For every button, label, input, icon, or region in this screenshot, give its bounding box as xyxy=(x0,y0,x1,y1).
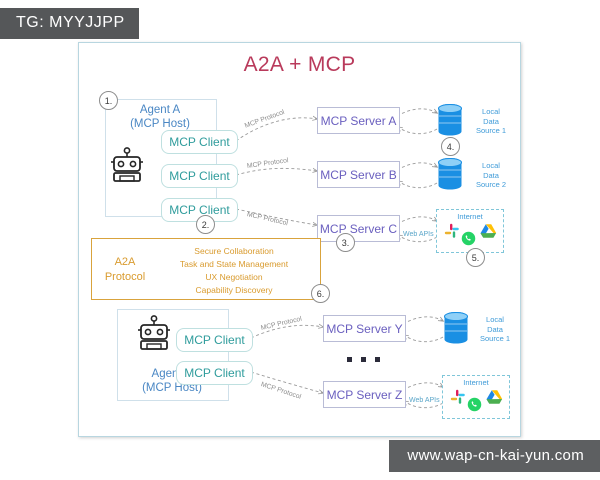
ds2-line2: Data xyxy=(467,171,515,181)
diagram-canvas: A2A + MCP Agent A (MCP Host) MCP Client … xyxy=(79,43,520,436)
internet-label-1: Internet xyxy=(437,212,503,221)
a2a-feature-3: UX Negotiation xyxy=(154,272,314,282)
mcp-protocol-label-3: MCP Protocol xyxy=(246,211,288,227)
ds3-line1: Local xyxy=(472,315,518,325)
ds1-line1: Local xyxy=(467,107,515,117)
step-badge-4: 4. xyxy=(441,137,460,156)
data-source-label-3: Local Data Source 1 xyxy=(472,315,518,344)
robot-icon xyxy=(136,315,172,351)
internet-group-2: Internet xyxy=(442,375,510,419)
data-source-label-2: Local Data Source 2 xyxy=(467,161,515,190)
google-drive-icon xyxy=(480,223,497,239)
agent-a-client-1[interactable]: MCP Client xyxy=(161,130,238,154)
step-badge-6: 6. xyxy=(311,284,330,303)
ds2-line1: Local xyxy=(467,161,515,171)
database-icon xyxy=(437,104,463,137)
a2a-feature-2: Task and State Management xyxy=(154,259,314,269)
agent-a-client-2[interactable]: MCP Client xyxy=(161,164,238,188)
whatsapp-icon xyxy=(461,231,476,246)
robot-icon xyxy=(109,147,145,183)
mcp-protocol-label-2: MCP Protocol xyxy=(247,157,289,170)
agent-a-name: Agent A xyxy=(105,103,215,117)
mcp-server-y[interactable]: MCP Server Y xyxy=(323,315,406,342)
ds3-line3: Source 1 xyxy=(472,334,518,344)
a2a-name-line2: Protocol xyxy=(105,271,145,283)
web-apis-label-2: Web APIs xyxy=(409,397,440,404)
page-title: A2A + MCP xyxy=(79,53,520,77)
mcp-protocol-label-4: MCP Protocol xyxy=(260,316,302,332)
data-source-label-1: Local Data Source 1 xyxy=(467,107,515,136)
slack-icon xyxy=(450,389,466,405)
web-apis-label-1: Web APIs xyxy=(403,231,434,238)
agent-a-title: Agent A (MCP Host) xyxy=(105,103,215,131)
ds1-line2: Data xyxy=(467,117,515,127)
internet-group-1: Internet xyxy=(436,209,504,253)
mcp-server-b[interactable]: MCP Server B xyxy=(317,161,400,188)
url-watermark-badge: www.wap-cn-kai-yun.com xyxy=(389,440,600,472)
tg-watermark-badge: TG: MYYJJPP xyxy=(0,8,139,39)
agent-b-client-1[interactable]: MCP Client xyxy=(176,328,253,352)
whatsapp-icon xyxy=(467,397,482,412)
database-icon xyxy=(437,158,463,191)
slack-icon xyxy=(444,223,460,239)
mcp-protocol-label-5: MCP Protocol xyxy=(260,381,302,401)
google-drive-icon xyxy=(486,389,503,405)
internet-label-2: Internet xyxy=(443,378,509,387)
diagram-frame: A2A + MCP Agent A (MCP Host) MCP Client … xyxy=(78,42,521,437)
ds1-line3: Source 1 xyxy=(467,126,515,136)
agent-a-role: (MCP Host) xyxy=(105,117,215,131)
a2a-name-line1: A2A xyxy=(115,256,136,268)
step-badge-2: 2. xyxy=(196,215,215,234)
ellipsis-dots xyxy=(347,357,380,362)
a2a-protocol-name: A2A Protocol xyxy=(94,255,156,285)
a2a-feature-1: Secure Collaboration xyxy=(154,246,314,256)
mcp-server-a[interactable]: MCP Server A xyxy=(317,107,400,134)
mcp-protocol-label-1: MCP Protocol xyxy=(244,109,286,130)
ds2-line3: Source 2 xyxy=(467,180,515,190)
mcp-server-z[interactable]: MCP Server Z xyxy=(323,381,406,408)
step-badge-1: 1. xyxy=(99,91,118,110)
ds3-line2: Data xyxy=(472,325,518,335)
agent-b-client-2[interactable]: MCP Client xyxy=(176,361,253,385)
step-badge-3: 3. xyxy=(336,233,355,252)
a2a-protocol-box: A2A Protocol Secure Collaboration Task a… xyxy=(91,238,321,300)
a2a-feature-4: Capability Discovery xyxy=(154,285,314,295)
database-icon xyxy=(443,312,469,345)
step-badge-5: 5. xyxy=(466,248,485,267)
mcp-server-c[interactable]: MCP Server C xyxy=(317,215,400,242)
